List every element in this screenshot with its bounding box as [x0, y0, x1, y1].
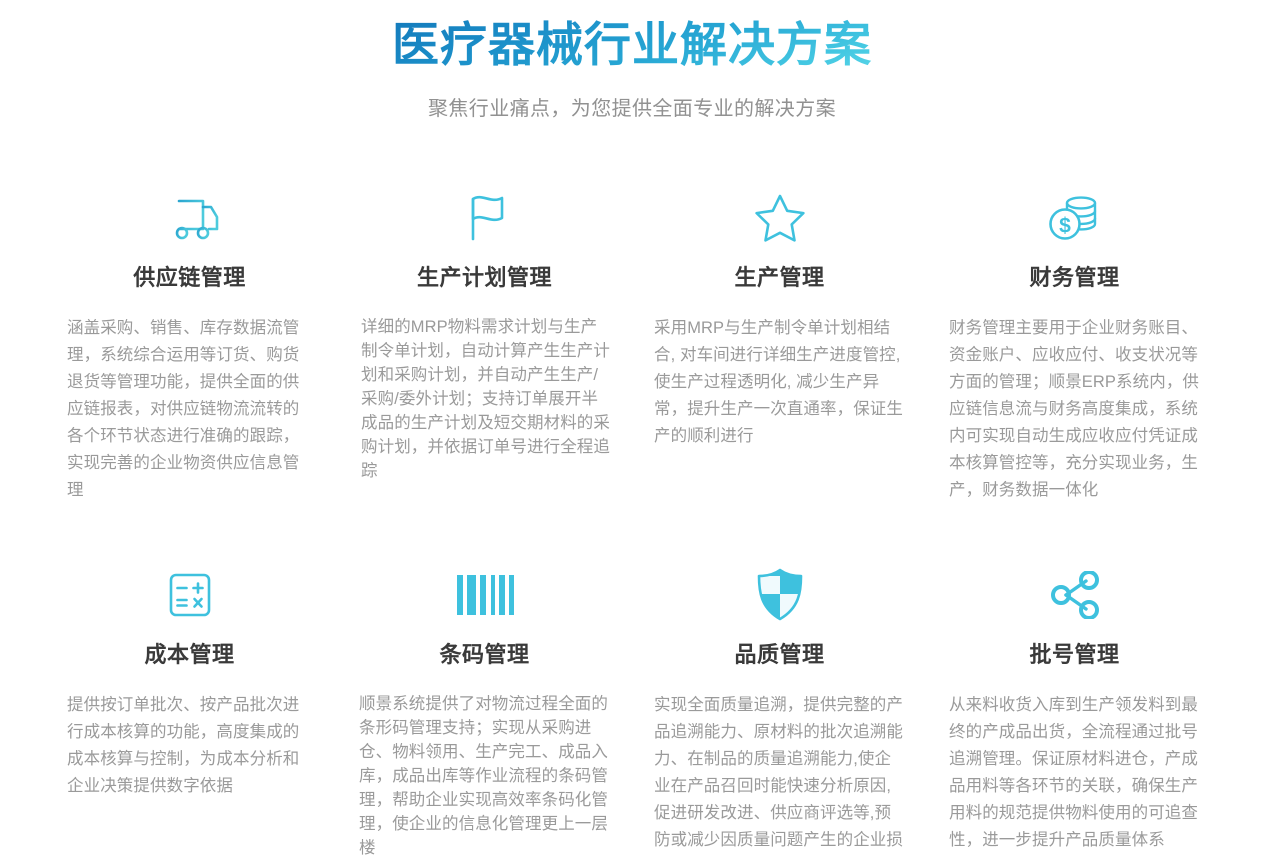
feature-card-title: 批号管理 [949, 640, 1200, 670]
feature-card-quality[interactable]: 品质管理 实现全面质量追溯，提供完整的产品追溯能力、原材料的批次追溯能力、在制品… [632, 504, 927, 858]
feature-card-description: 提供按订单批次、按产品批次进行成本核算的功能，高度集成的成本核算与控制，为成本分… [64, 692, 315, 800]
page-header: 医疗器械行业解决方案 聚焦行业痛点，为您提供全面专业的解决方案 [0, 0, 1264, 123]
money-coins-icon: $ [949, 185, 1200, 251]
feature-card-title: 财务管理 [949, 263, 1200, 293]
feature-card-title: 成本管理 [64, 640, 315, 670]
shield-icon [654, 562, 905, 628]
star-icon [654, 185, 905, 251]
barcode-icon [359, 562, 610, 628]
feature-card-description: 从来料收货入库到生产领发料到最终的产成品出货，全流程通过批号追溯管理。保证原材料… [949, 692, 1200, 854]
svg-text:$: $ [1059, 215, 1071, 238]
feature-card-cost[interactable]: 成本管理 提供按订单批次、按产品批次进行成本核算的功能，高度集成的成本核算与控制… [42, 504, 337, 858]
feature-card-description: 财务管理主要用于企业财务账目、资金账户、应收应付、收支状况等方面的管理；顺景ER… [949, 315, 1200, 504]
feature-card-grid: 供应链管理 涵盖采购、销售、库存数据流管理，系统综合运用等订货、购货退货等管理功… [0, 185, 1264, 858]
feature-card-title: 条码管理 [359, 640, 610, 670]
feature-card-title: 品质管理 [654, 640, 905, 670]
share-network-icon [949, 562, 1200, 628]
delivery-truck-icon [64, 185, 315, 251]
feature-card-title: 生产计划管理 [359, 263, 610, 293]
feature-card-supply-chain[interactable]: 供应链管理 涵盖采购、销售、库存数据流管理，系统综合运用等订货、购货退货等管理功… [42, 185, 337, 504]
feature-card-title: 生产管理 [654, 263, 905, 293]
calculator-icon [64, 562, 315, 628]
feature-card-lot-number[interactable]: 批号管理 从来料收货入库到生产领发料到最终的产成品出货，全流程通过批号追溯管理。… [927, 504, 1222, 858]
solution-page: 医疗器械行业解决方案 聚焦行业痛点，为您提供全面专业的解决方案 [0, 0, 1264, 858]
flag-icon [359, 185, 610, 251]
feature-card-description: 采用MRP与生产制令单计划相结合, 对车间进行详细生产进度管控, 使生产过程透明… [654, 315, 905, 450]
feature-card-production[interactable]: 生产管理 采用MRP与生产制令单计划相结合, 对车间进行详细生产进度管控, 使生… [632, 185, 927, 504]
feature-card-title: 供应链管理 [64, 263, 315, 293]
feature-card-description: 涵盖采购、销售、库存数据流管理，系统综合运用等订货、购货退货等管理功能，提供全面… [64, 315, 315, 504]
page-title: 医疗器械行业解决方案 [392, 14, 872, 76]
feature-card-description: 顺景系统提供了对物流过程全面的条形码管理支持；实现从采购进仓、物料领用、生产完工… [359, 692, 610, 858]
feature-card-description: 实现全面质量追溯，提供完整的产品追溯能力、原材料的批次追溯能力、在制品的质量追溯… [654, 692, 905, 858]
feature-card-barcode[interactable]: 条码管理 顺景系统提供了对物流过程全面的条形码管理支持；实现从采购进仓、物料领用… [337, 504, 632, 858]
feature-card-production-plan[interactable]: 生产计划管理 详细的MRP物料需求计划与生产制令单计划，自动计算产生生产计划和采… [337, 185, 632, 504]
feature-card-description: 详细的MRP物料需求计划与生产制令单计划，自动计算产生生产计划和采购计划，并自动… [359, 315, 610, 483]
page-subtitle: 聚焦行业痛点，为您提供全面专业的解决方案 [0, 95, 1264, 123]
feature-card-finance[interactable]: $ 财务管理 财务管理主要用于企业财务账目、资金账户、应收应付、收支状况等方面的… [927, 185, 1222, 504]
